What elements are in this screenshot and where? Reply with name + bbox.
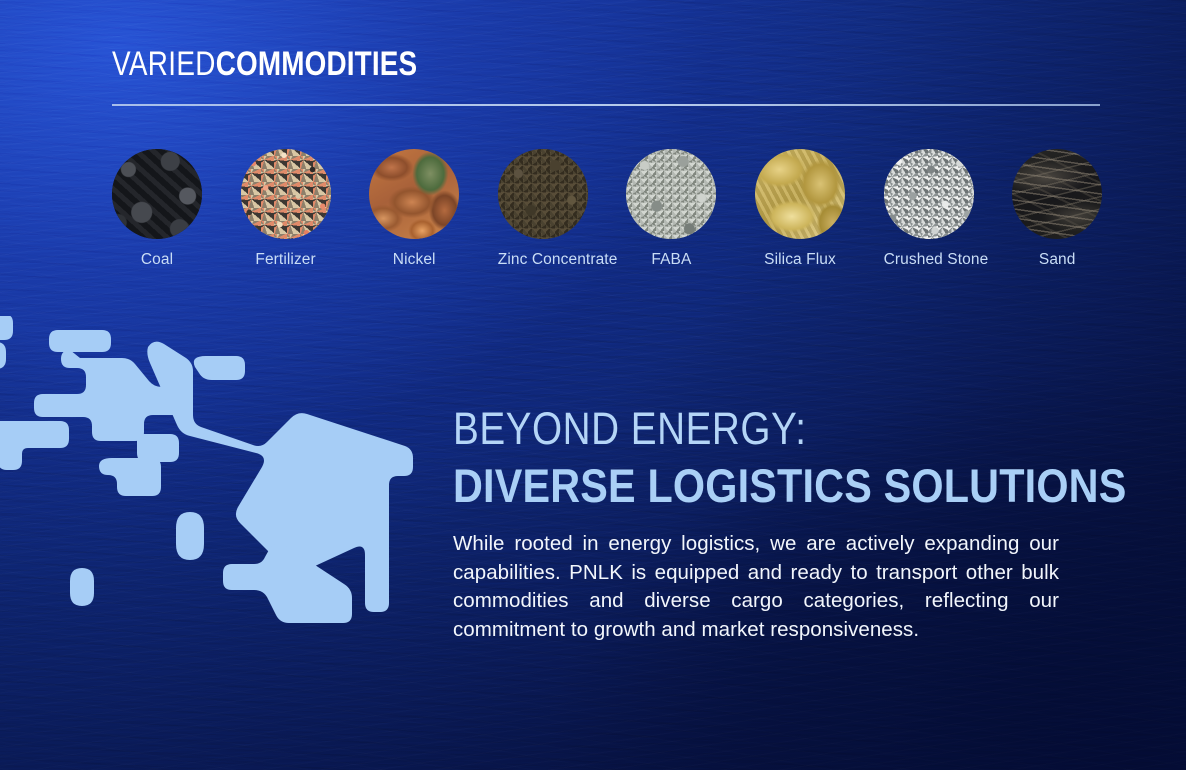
slide-canvas: VARIEDCOMMODITIES CoalFertilizerNickelZi… (0, 0, 1186, 770)
faba-ash-texture-icon (626, 149, 716, 239)
commodity-label: Crushed Stone (884, 251, 974, 269)
texture-fill (369, 149, 459, 239)
sand-texture-icon (1012, 149, 1102, 239)
header-divider (112, 104, 1100, 106)
texture-fill (498, 149, 588, 239)
page-title-light: VARIED (112, 45, 216, 83)
commodity-label: FABA (626, 251, 716, 269)
commodity-label: Zinc Concentrate (498, 251, 588, 269)
content-heading: DIVERSE LOGISTICS SOLUTIONS (453, 459, 988, 513)
commodity-item[interactable]: Sand (1012, 149, 1102, 269)
content-block: BEYOND ENERGY: DIVERSE LOGISTICS SOLUTIO… (453, 404, 1061, 665)
zinc-concentrate-texture-icon (498, 149, 588, 239)
commodity-item[interactable]: FABA (626, 149, 716, 269)
texture-fill (755, 149, 845, 239)
commodity-label: Silica Flux (755, 251, 845, 269)
content-kicker: BEYOND ENERGY: (453, 404, 976, 454)
crushed-stone-texture-icon (884, 149, 974, 239)
texture-fill (241, 149, 331, 239)
commodity-list: CoalFertilizerNickelZinc ConcentrateFABA… (112, 149, 1102, 279)
commodity-label: Fertilizer (241, 251, 331, 269)
texture-fill (626, 149, 716, 239)
commodity-label: Sand (1012, 251, 1102, 269)
commodity-label: Coal (112, 251, 202, 269)
commodity-item[interactable]: Silica Flux (755, 149, 845, 269)
silica-flux-texture-icon (755, 149, 845, 239)
nickel-ore-texture-icon (369, 149, 459, 239)
content-paragraph: While rooted in energy logistics, we are… (453, 530, 1059, 644)
texture-fill (112, 149, 202, 239)
archipelago-map-icon (0, 316, 436, 636)
commodity-item[interactable]: Fertilizer (241, 149, 331, 269)
commodity-item[interactable]: Nickel (369, 149, 459, 269)
commodity-item[interactable]: Crushed Stone (884, 149, 974, 269)
texture-fill (884, 149, 974, 239)
commodity-label: Nickel (369, 251, 459, 269)
commodity-item[interactable]: Coal (112, 149, 202, 269)
page-title-bold: COMMODITIES (216, 45, 418, 83)
section-header: VARIEDCOMMODITIES (112, 45, 1102, 83)
fertilizer-texture-icon (241, 149, 331, 239)
commodity-item[interactable]: Zinc Concentrate (498, 149, 588, 269)
page-title: VARIEDCOMMODITIES (112, 45, 924, 83)
coal-texture-icon (112, 149, 202, 239)
texture-fill (1012, 149, 1102, 239)
